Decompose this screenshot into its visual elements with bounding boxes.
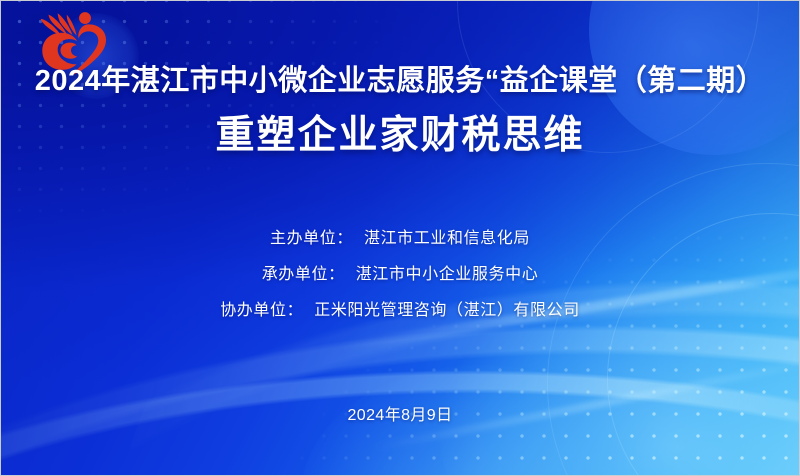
organizer-label-organizer: 承办单位： — [262, 267, 356, 283]
page-title-line-2: 重塑企业家财税思维 — [1, 112, 799, 160]
event-date: 2024年8月9日 — [1, 401, 799, 425]
organizer-list: 主办单位： 湛江市工业和信息化局 承办单位： 湛江市中小企业服务中心 协办单位：… — [1, 231, 799, 339]
organizer-value-organizer: 湛江市中小企业服务中心 — [356, 267, 539, 283]
event-poster-banner: 2024年湛江市中小微企业志愿服务“益企课堂（第二期） 重塑企业家财税思维 主办… — [0, 0, 800, 476]
poster-content: 2024年湛江市中小微企业志愿服务“益企课堂（第二期） 重塑企业家财税思维 主办… — [1, 1, 799, 475]
organizer-value-coorganizer: 正米阳光管理咨询（湛江）有限公司 — [314, 303, 580, 319]
poster-title-block: 2024年湛江市中小微企业志愿服务“益企课堂（第二期） 重塑企业家财税思维 — [1, 63, 799, 160]
organizer-row-organizer: 承办单位： 湛江市中小企业服务中心 — [1, 267, 799, 283]
organizer-value-host: 湛江市工业和信息化局 — [364, 231, 530, 247]
organizer-label-host: 主办单位： — [270, 231, 364, 247]
page-title-line-1: 2024年湛江市中小微企业志愿服务“益企课堂（第二期） — [1, 63, 799, 100]
organizer-row-coorganizer: 协办单位： 正米阳光管理咨询（湛江）有限公司 — [1, 303, 799, 319]
organizer-row-host: 主办单位： 湛江市工业和信息化局 — [1, 231, 799, 247]
organizer-label-coorganizer: 协办单位： — [220, 303, 314, 319]
